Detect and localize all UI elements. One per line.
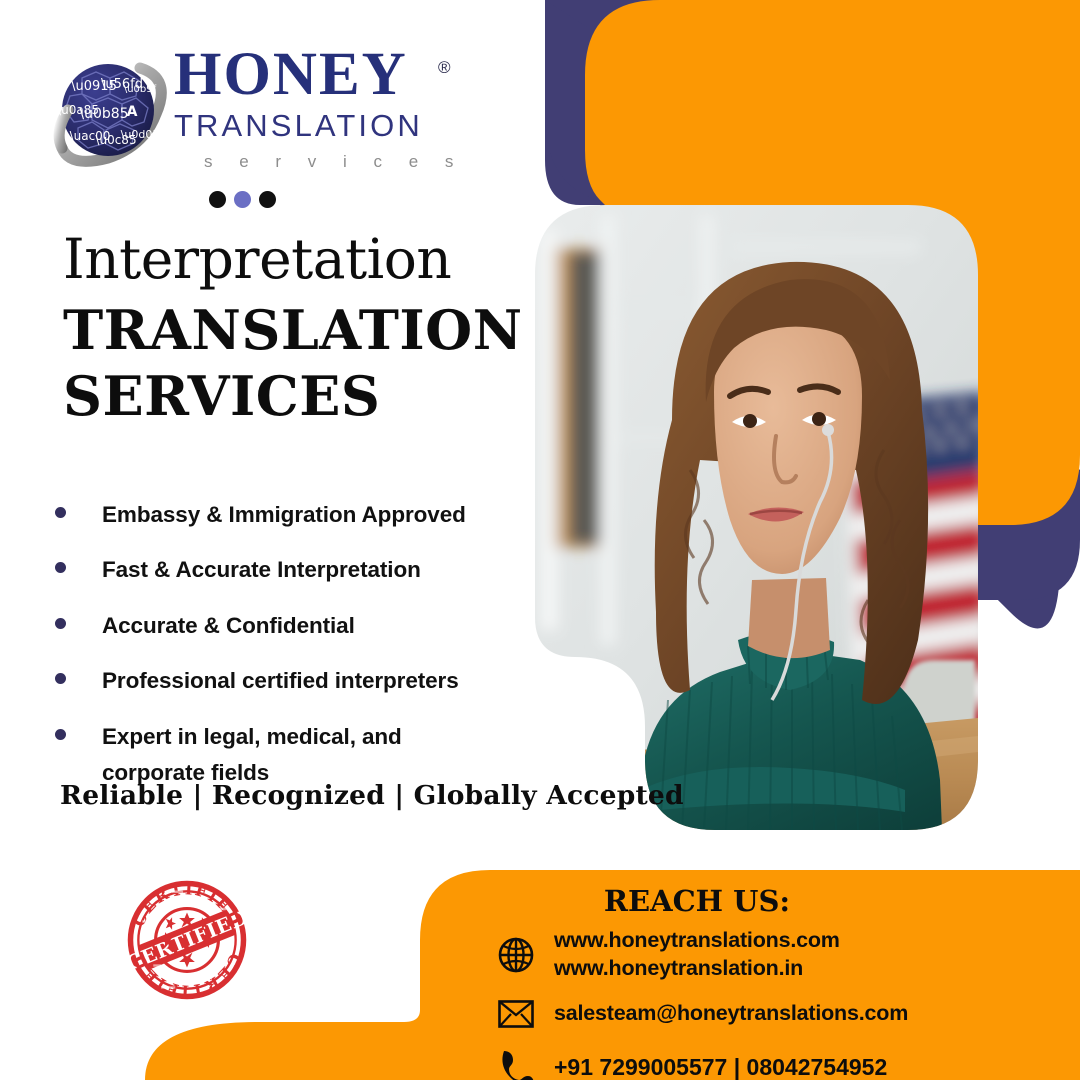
svg-text:\u0b9f: \u0b9f <box>124 84 157 95</box>
feature-text: Fast & Accurate Interpretation <box>102 552 421 588</box>
hero-photo <box>535 205 985 830</box>
certified-stamp-badge: CERTIFIED CERTIFIED CERTIFIED <box>108 878 266 1002</box>
contact-row-website[interactable]: www.honeytranslations.com www.honeytrans… <box>494 927 1074 982</box>
dot-1 <box>209 191 226 208</box>
list-item: Embassy & Immigration Approved <box>55 497 535 533</box>
email-address[interactable]: salesteam@honeytranslations.com <box>554 1000 908 1028</box>
registered-trademark-icon: ® <box>438 58 451 78</box>
poster-canvas: \u0915 \u56fd \u0b9f \u0a85 \u0b85 A \ua… <box>0 0 1080 1080</box>
list-item: Professional certified interpreters <box>55 663 535 699</box>
brand-name-secondary: TRANSLATION <box>174 108 474 144</box>
headline-line-2: SERVICES <box>63 363 533 429</box>
globe-icon <box>494 933 538 977</box>
website-primary[interactable]: www.honeytranslations.com <box>554 928 840 952</box>
decorative-dots <box>209 191 276 208</box>
bullet-point-icon <box>55 562 66 573</box>
headline-block: Interpretation TRANSLATION SERVICES <box>63 232 533 430</box>
brand-wordmark: HONEY ® TRANSLATION s e r v i c e s <box>174 44 474 172</box>
feature-text: Accurate & Confidential <box>102 608 355 644</box>
bullet-point-icon <box>55 507 66 518</box>
list-item: Fast & Accurate Interpretation <box>55 552 535 588</box>
envelope-icon <box>494 992 538 1036</box>
dot-2 <box>234 191 251 208</box>
feature-text: Embassy & Immigration Approved <box>102 497 466 533</box>
phone-icon <box>494 1046 538 1080</box>
headline-script: Interpretation <box>63 232 533 287</box>
headline-line-1: TRANSLATION <box>63 297 533 363</box>
bullet-point-icon <box>55 729 66 740</box>
purple-decorative-shape <box>545 0 1080 628</box>
dot-3 <box>259 191 276 208</box>
brand-logo[interactable]: \u0915 \u56fd \u0b9f \u0a85 \u0b85 A \ua… <box>52 44 472 184</box>
contact-section: REACH US: www.honeytranslations.com www <box>420 870 1080 1080</box>
phone-numbers[interactable]: +91 7299005577 | 08042754952 <box>554 1053 887 1080</box>
globe-languages-icon: \u0915 \u56fd \u0b9f \u0a85 \u0b85 A \ua… <box>52 52 168 168</box>
tagline: Reliable | Recognized | Globally Accepte… <box>60 780 684 811</box>
svg-text:A: A <box>127 104 138 120</box>
list-item: Accurate & Confidential <box>55 608 535 644</box>
website-lines[interactable]: www.honeytranslations.com www.honeytrans… <box>554 927 840 982</box>
feature-list: Embassy & Immigration Approved Fast & Ac… <box>55 497 535 811</box>
orange-decorative-shape <box>585 0 1080 525</box>
brand-name-primary: HONEY <box>174 44 474 106</box>
bullet-point-icon <box>55 618 66 629</box>
svg-text:\u0b85: \u0b85 <box>79 106 128 122</box>
contact-row-phone[interactable]: +91 7299005577 | 08042754952 <box>494 1046 1074 1080</box>
bullet-point-icon <box>55 673 66 684</box>
contact-row-email[interactable]: salesteam@honeytranslations.com <box>494 992 1074 1036</box>
contact-heading: REACH US: <box>420 884 974 918</box>
brand-name-tertiary: s e r v i c e s <box>204 152 474 172</box>
contact-rows: www.honeytranslations.com www.honeytrans… <box>494 927 1074 1080</box>
website-secondary[interactable]: www.honeytranslation.in <box>554 956 803 980</box>
feature-text: Professional certified interpreters <box>102 663 459 699</box>
svg-text:\u0d05: \u0d05 <box>121 128 160 141</box>
